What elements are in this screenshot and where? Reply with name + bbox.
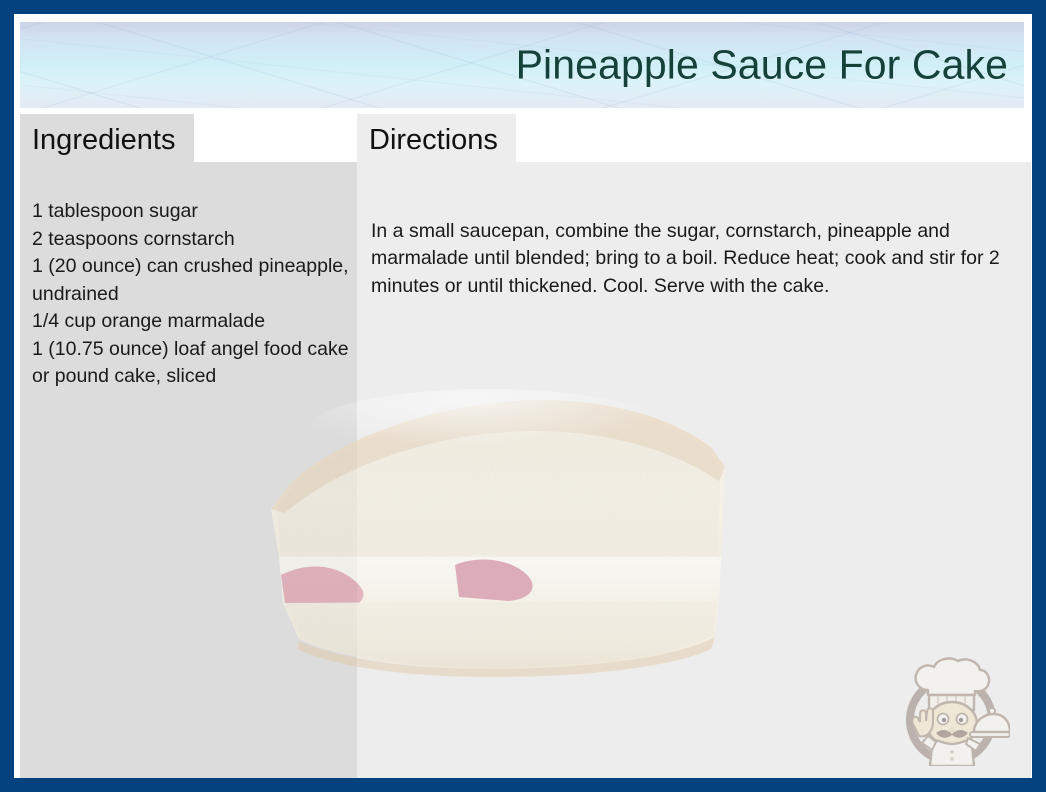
list-item: 1/4 cup orange marmalade <box>32 308 349 336</box>
directions-tab-label: Directions <box>369 124 498 157</box>
list-item: 2 teaspoons cornstarch <box>32 226 349 254</box>
directions-tab: Directions <box>357 114 516 162</box>
ingredients-body: 1 tablespoon sugar 2 teaspoons cornstarc… <box>20 162 361 778</box>
ingredients-tab-label: Ingredients <box>32 124 176 157</box>
list-item: 1 (10.75 ounce) loaf angel food cake or … <box>32 336 349 391</box>
list-item: 1 (20 ounce) can crushed pineapple, undr… <box>32 253 349 308</box>
ingredients-list: 1 tablespoon sugar 2 teaspoons cornstarc… <box>32 198 349 391</box>
content-panels: Ingredients 1 tablespoon sugar 2 teaspoo… <box>14 114 1032 778</box>
ingredients-panel: Ingredients 1 tablespoon sugar 2 teaspoo… <box>20 114 361 778</box>
directions-text: In a small saucepan, combine the sugar, … <box>371 218 1015 301</box>
page-title: Pineapple Sauce For Cake <box>516 43 1008 86</box>
header-banner: Pineapple Sauce For Cake <box>20 22 1024 108</box>
ingredients-tab: Ingredients <box>20 114 194 162</box>
chef-mascot-logo <box>892 648 1010 766</box>
list-item: 1 tablespoon sugar <box>32 198 349 226</box>
recipe-card: Pineapple Sauce For Cake Ingredients 1 t… <box>0 0 1046 792</box>
